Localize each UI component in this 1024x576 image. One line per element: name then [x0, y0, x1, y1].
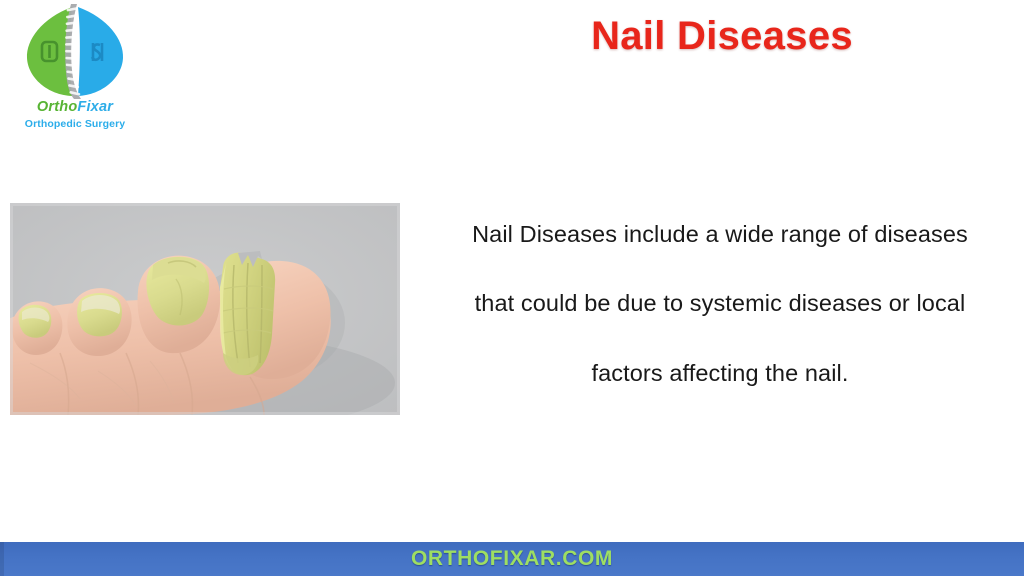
- page-title: Nail Diseases: [420, 14, 1024, 59]
- logo-subline: Orthopedic Surgery: [14, 118, 136, 130]
- paragraph-line: Nail Diseases include a wide range of di…: [420, 200, 1020, 269]
- body-paragraph: Nail Diseases include a wide range of di…: [420, 200, 1020, 408]
- paragraph-line: that could be due to systemic diseases o…: [420, 269, 1020, 338]
- orthofixar-logo[interactable]: OrthoFixar Orthopedic Surgery: [14, 4, 144, 139]
- logo-wordmark-fixar: Fixar: [77, 99, 113, 115]
- orthofixar-leaf-spine-logo-icon: [14, 4, 136, 99]
- logo-wordmark: OrthoFixar: [14, 100, 136, 115]
- footer-bar: ORTHOFIXAR.COM: [0, 542, 1024, 576]
- logo-wordmark-ortho: Ortho: [37, 99, 77, 115]
- paragraph-line: factors affecting the nail.: [420, 339, 1020, 408]
- footer-website-label[interactable]: ORTHOFIXAR.COM: [411, 547, 613, 571]
- onychomycosis-toenails-clinical-photo: [10, 203, 400, 415]
- slide-canvas: OrthoFixar Orthopedic Surgery Nail Disea…: [0, 0, 1024, 576]
